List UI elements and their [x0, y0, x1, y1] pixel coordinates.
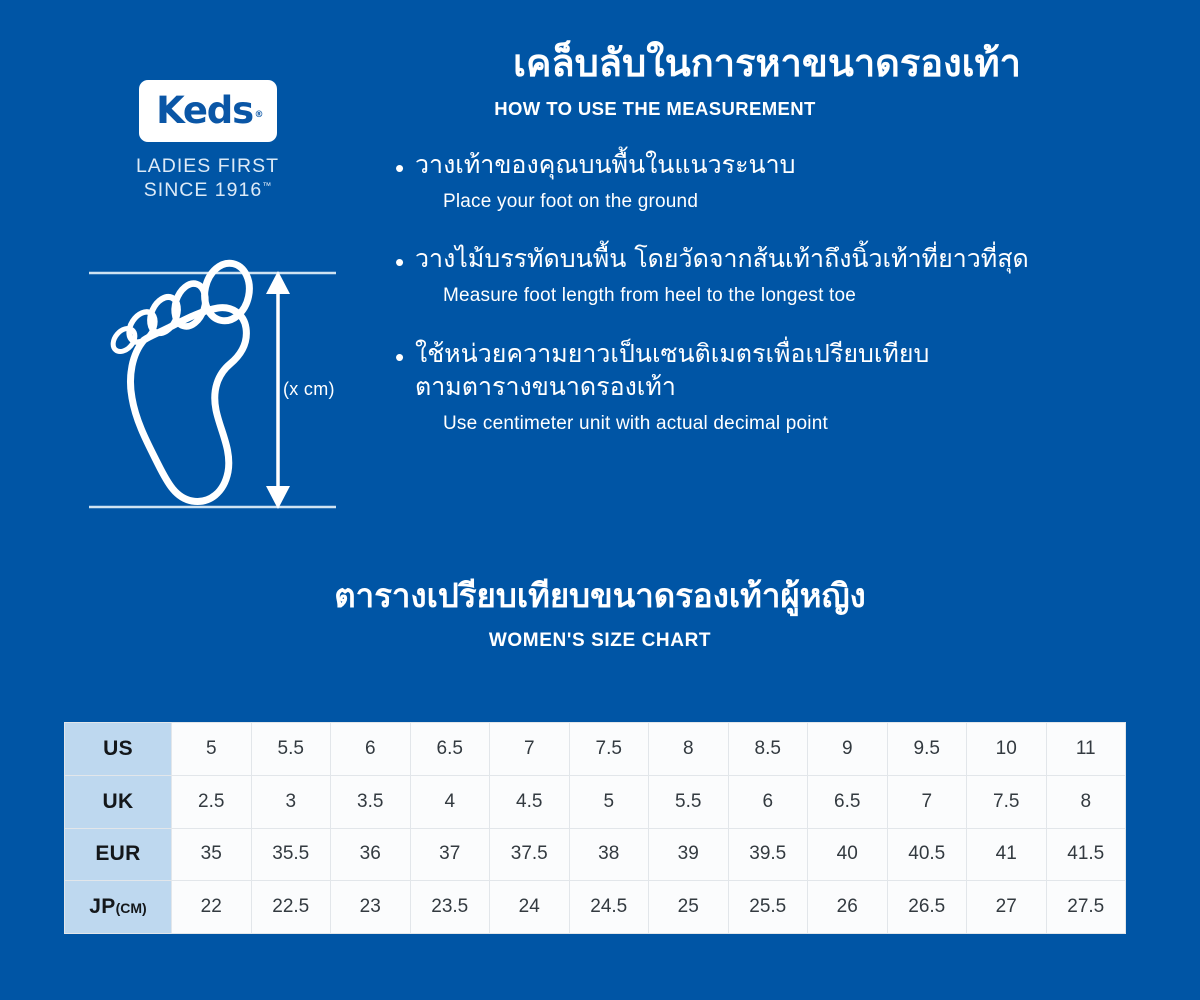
size-cell: 5.5 — [649, 775, 729, 828]
step-2-thai: วางไม้บรรทัดบนพื้น โดยวัดจากส้นเท้าถึงนิ… — [415, 242, 1135, 275]
measurement-label: (x cm) — [283, 379, 335, 400]
size-cell: 3.5 — [331, 775, 411, 828]
size-cell: 23.5 — [410, 881, 490, 934]
row-label-jp: JP(CM) — [65, 881, 172, 934]
size-cell: 36 — [331, 828, 411, 881]
size-chart-title-english: WOMEN'S SIZE CHART — [0, 630, 1200, 652]
size-cell: 8 — [1046, 775, 1126, 828]
size-cell: 25 — [649, 881, 729, 934]
bullet-icon: • — [395, 249, 415, 275]
size-cell: 35 — [172, 828, 252, 881]
size-cell: 10 — [967, 723, 1047, 776]
instruction-step-3: • ใช้หน่วยความยาวเป็นเซนติเมตรเพื่อเปรีย… — [395, 337, 1135, 437]
size-cell: 24 — [490, 881, 570, 934]
step-2-english: Measure foot length from heel to the lon… — [443, 284, 1135, 309]
bullet-icon: • — [395, 344, 415, 370]
size-cell: 27.5 — [1046, 881, 1126, 934]
size-cell: 26.5 — [887, 881, 967, 934]
toe-1-icon — [199, 259, 254, 325]
size-cell: 8.5 — [728, 723, 808, 776]
size-cell: 5 — [172, 723, 252, 776]
size-cell: 7 — [887, 775, 967, 828]
brand-tagline-line2: SINCE 1916™ — [110, 178, 305, 202]
size-cell: 37 — [410, 828, 490, 881]
size-cell: 2.5 — [172, 775, 252, 828]
table-row: JP(CM)2222.52323.52424.52525.52626.52727… — [65, 881, 1126, 934]
step-1-thai: วางเท้าของคุณบนพื้นในแนวระนาบ — [415, 148, 1135, 181]
brand-logo-block: Keds ® LADIES FIRST SINCE 1916™ — [110, 80, 305, 202]
bullet-icon: • — [395, 155, 415, 181]
size-cell: 37.5 — [490, 828, 570, 881]
size-cell: 41 — [967, 828, 1047, 881]
keds-logo-plate: Keds ® — [139, 80, 277, 142]
size-cell: 3 — [251, 775, 331, 828]
size-cell: 5.5 — [251, 723, 331, 776]
size-cell: 26 — [808, 881, 888, 934]
instruction-step-1: • วางเท้าของคุณบนพื้นในแนวระนาบ Place yo… — [395, 148, 1135, 215]
step-1-english: Place your foot on the ground — [443, 190, 1135, 215]
size-chart-heading: ตารางเปรียบเทียบขนาดรองเท้าผู้หญิง WOMEN… — [0, 576, 1200, 652]
size-cell: 7.5 — [569, 723, 649, 776]
size-chart-table: US55.566.577.588.599.51011UK2.533.544.55… — [64, 722, 1126, 934]
step-3-english: Use centimeter unit with actual decimal … — [443, 412, 1135, 437]
instructions-panel: เคล็บลับในการหาขนาดรองเท้า HOW TO USE TH… — [395, 42, 1135, 437]
size-cell: 4 — [410, 775, 490, 828]
size-chart-title-thai: ตารางเปรียบเทียบขนาดรองเท้าผู้หญิง — [0, 576, 1200, 616]
table-row: US55.566.577.588.599.51011 — [65, 723, 1126, 776]
measure-arrow-head-up — [266, 271, 290, 294]
size-cell: 9.5 — [887, 723, 967, 776]
size-cell: 11 — [1046, 723, 1126, 776]
size-cell: 22 — [172, 881, 252, 934]
size-cell: 23 — [331, 881, 411, 934]
instruction-step-2: • วางไม้บรรทัดบนพื้น โดยวัดจากส้นเท้าถึง… — [395, 242, 1135, 309]
table-row: UK2.533.544.555.566.577.58 — [65, 775, 1126, 828]
size-cell: 6 — [728, 775, 808, 828]
size-cell: 39.5 — [728, 828, 808, 881]
size-chart-table-wrap: US55.566.577.588.599.51011UK2.533.544.55… — [64, 722, 1126, 934]
size-cell: 40.5 — [887, 828, 967, 881]
brand-tagline-line1: LADIES FIRST — [110, 154, 305, 178]
trademark-icon: ™ — [262, 181, 271, 191]
measure-arrow-head-down — [266, 486, 290, 509]
size-cell: 6.5 — [410, 723, 490, 776]
page-title-english: HOW TO USE THE MEASUREMENT — [395, 98, 1135, 120]
size-cell: 7.5 — [967, 775, 1047, 828]
page-title-thai: เคล็บลับในการหาขนาดรองเท้า — [395, 42, 1135, 86]
size-cell: 4.5 — [490, 775, 570, 828]
size-cell: 38 — [569, 828, 649, 881]
size-cell: 39 — [649, 828, 729, 881]
size-cell: 40 — [808, 828, 888, 881]
size-cell: 27 — [967, 881, 1047, 934]
size-cell: 8 — [649, 723, 729, 776]
row-label-us: US — [65, 723, 172, 776]
size-cell: 6 — [331, 723, 411, 776]
row-label-unit: (CM) — [116, 900, 147, 916]
table-row: EUR3535.5363737.5383939.54040.54141.5 — [65, 828, 1126, 881]
size-cell: 6.5 — [808, 775, 888, 828]
row-label-uk: UK — [65, 775, 172, 828]
size-cell: 25.5 — [728, 881, 808, 934]
size-cell: 9 — [808, 723, 888, 776]
size-cell: 24.5 — [569, 881, 649, 934]
registered-trademark-icon: ® — [255, 110, 264, 120]
size-cell: 7 — [490, 723, 570, 776]
step-3-thai: ใช้หน่วยความยาวเป็นเซนติเมตรเพื่อเปรียบเ… — [415, 337, 1135, 403]
size-cell: 35.5 — [251, 828, 331, 881]
row-label-eur: EUR — [65, 828, 172, 881]
brand-tagline-line2-text: SINCE 1916 — [144, 179, 262, 201]
size-cell: 5 — [569, 775, 649, 828]
size-cell: 22.5 — [251, 881, 331, 934]
keds-wordmark: Keds — [156, 92, 253, 129]
size-cell: 41.5 — [1046, 828, 1126, 881]
